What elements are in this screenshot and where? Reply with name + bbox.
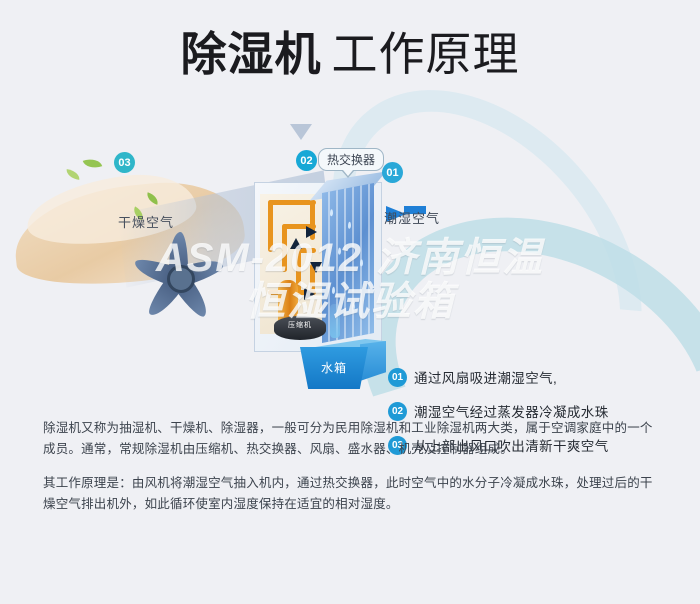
condensate-drop xyxy=(338,247,341,255)
description-text: 除湿机又称为抽湿机、干燥机、除湿器，一般可分为民用除湿机和工业除湿机两大类，属于… xyxy=(43,418,663,528)
step-badge: 01 xyxy=(388,368,407,387)
water-tank-label: 水箱 xyxy=(300,359,368,376)
flow-arrow-up-icon xyxy=(290,238,302,249)
label-humid-air: 潮湿空气 xyxy=(384,208,440,227)
coil-segment xyxy=(268,200,316,205)
page-title-part2: 工作原理 xyxy=(332,28,520,80)
page-title-part1: 除湿机 xyxy=(181,28,322,80)
flow-arrow-right-icon xyxy=(304,288,315,300)
page-title: 除湿机工作原理 xyxy=(0,28,700,80)
flow-arrow-down-icon xyxy=(310,262,322,273)
leaf-icon xyxy=(83,156,103,172)
condensate-drop xyxy=(360,259,363,267)
description-paragraph-1: 除湿机又称为抽湿机、干燥机、除湿器，一般可分为民用除湿机和工业除湿机两大类，属于… xyxy=(43,418,663,460)
leaf-icon xyxy=(65,169,80,180)
illustration-stage: 压缩机 水箱 03 02 01 干燥空气 潮湿空气 热交换器 01 xyxy=(0,108,700,408)
badge-02: 02 xyxy=(296,150,317,171)
badge-03: 03 xyxy=(114,152,135,173)
condensate-drop xyxy=(332,287,335,295)
coil-segment xyxy=(282,224,287,272)
label-dry-air: 干燥空气 xyxy=(118,212,174,231)
badge-01: 01 xyxy=(382,162,403,183)
compressor-label: 压缩机 xyxy=(276,320,324,330)
step-text: 通过风扇吸进潮湿空气, xyxy=(414,367,557,387)
flow-arrow-right-icon xyxy=(306,226,317,238)
infographic-page: 除湿机工作原理 xyxy=(0,0,700,566)
water-tank: 水箱 xyxy=(296,333,388,393)
label-heat-exchanger: 热交换器 xyxy=(318,148,384,171)
step-item: 01 通过风扇吸进潮湿空气, xyxy=(388,360,678,394)
fan-hub xyxy=(167,265,195,293)
condensate-drop xyxy=(330,209,333,217)
coil-segment xyxy=(268,200,273,252)
condensate-drop xyxy=(348,221,351,229)
dry-air-exhaust-arrow-icon xyxy=(290,124,312,140)
description-paragraph-2: 其工作原理是：由风机将潮湿空气抽入机内，通过热交换器，此时空气中的水分子冷凝成水… xyxy=(43,473,663,515)
condensate-drop xyxy=(352,303,355,311)
